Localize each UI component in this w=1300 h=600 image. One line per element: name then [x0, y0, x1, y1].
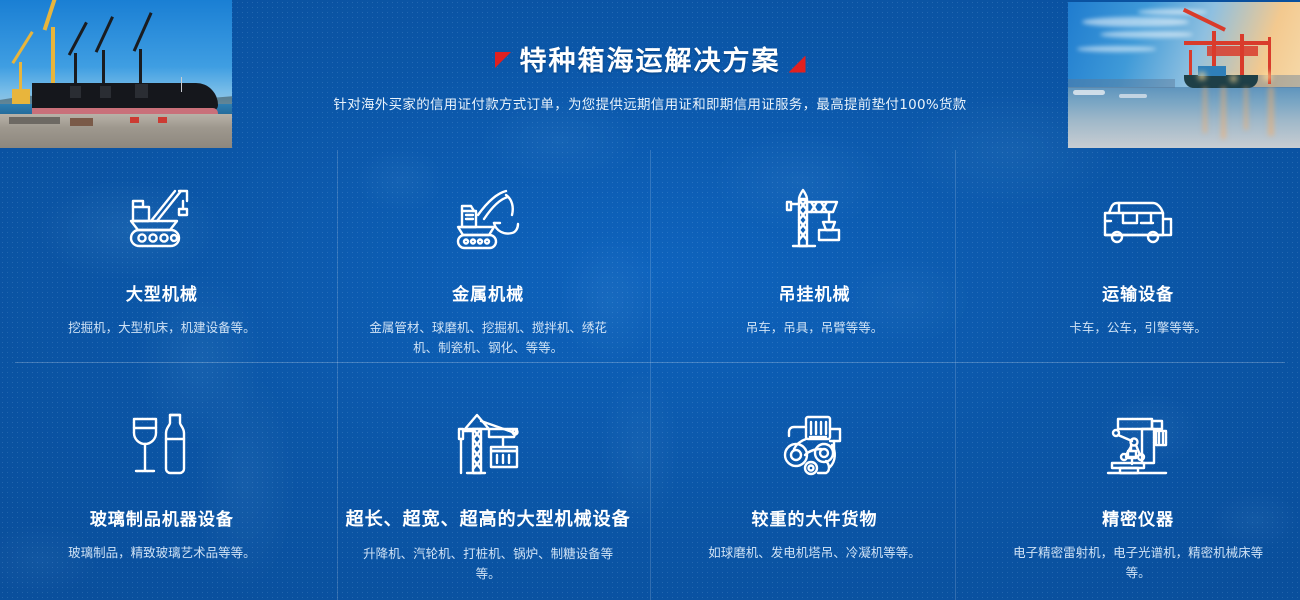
grid-divider-vertical — [955, 150, 956, 600]
card-description: 电子精密雷射机，电子光谱机，精密机械床等等。 — [1013, 543, 1263, 583]
card-title: 大型机械 — [126, 280, 198, 305]
card-description: 金属管材、球磨机、挖掘机、搅拌机、绣花机、制瓷机、钢化、等等。 — [363, 318, 613, 358]
card-title: 吊挂机械 — [778, 280, 850, 305]
excavator-icon — [448, 178, 528, 264]
precision-drill-icon — [1098, 403, 1178, 489]
card-description: 升降机、汽轮机、打桩机、锅炉、制糖设备等等。 — [354, 544, 622, 584]
page-title: 特种箱海运解决方案 — [520, 48, 781, 75]
card-description: 挖掘机，大型机床，机建设备等。 — [68, 318, 256, 338]
category-card-metal-machinery[interactable]: 金属机械 金属管材、球磨机、挖掘机、搅拌机、绣花机、制瓷机、钢化、等等。 — [324, 150, 653, 375]
card-description: 卡车，公车，引擎等等。 — [1069, 318, 1207, 338]
tower-crane-icon — [777, 178, 851, 264]
glass-bottle-icon — [128, 403, 196, 489]
category-grid: 大型机械 挖掘机，大型机床，机建设备等。 — [0, 150, 1300, 600]
container-crane-icon — [445, 403, 531, 489]
card-title: 精密仪器 — [1102, 505, 1174, 530]
grid-divider-vertical — [337, 150, 338, 600]
card-title: 超长、超宽、超高的大型机械设备 — [346, 505, 631, 531]
card-description: 吊车，吊具，吊臂等等。 — [746, 318, 884, 338]
category-card-lifting-machinery[interactable]: 吊挂机械 吊车，吊具，吊臂等等。 — [653, 150, 977, 375]
category-card-heavy-cargo[interactable]: 较重的大件货物 如球磨机、发电机塔吊、冷凝机等等。 — [653, 375, 977, 600]
card-description: 玻璃制品，精致玻璃艺术品等等。 — [68, 543, 256, 563]
card-title: 玻璃制品机器设备 — [90, 505, 234, 530]
triangle-accent-right-icon — [789, 56, 806, 73]
bus-truck-icon — [1097, 178, 1179, 264]
category-card-transport-equipment[interactable]: 运输设备 卡车，公车，引擎等等。 — [976, 150, 1300, 375]
category-card-precision-instruments[interactable]: 精密仪器 电子精密雷射机，电子光谱机，精密机械床等等。 — [976, 375, 1300, 600]
hero-section: 特种箱海运解决方案 针对海外买家的信用证付款方式订单，为您提供远期信用证和即期信… — [0, 0, 1300, 150]
category-card-oversized-machinery[interactable]: 超长、超宽、超高的大型机械设备 升降机、汽轮机、打桩机、锅炉、制糖设备等等。 — [324, 375, 653, 600]
category-card-glass-products[interactable]: 玻璃制品机器设备 玻璃制品，精致玻璃艺术品等等。 — [0, 375, 324, 600]
category-card-heavy-machinery[interactable]: 大型机械 挖掘机，大型机床，机建设备等。 — [0, 150, 324, 375]
card-title: 金属机械 — [452, 280, 524, 305]
card-title: 较重的大件货物 — [751, 505, 877, 530]
engine-icon — [776, 403, 852, 489]
card-title: 运输设备 — [1102, 280, 1174, 305]
crawler-crane-icon — [123, 178, 201, 264]
triangle-accent-left-icon — [495, 52, 512, 69]
grid-divider-horizontal — [15, 362, 1285, 363]
promo-banner: 特种箱海运解决方案 针对海外买家的信用证付款方式订单，为您提供远期信用证和即期信… — [0, 0, 1300, 600]
hero-title-row: 特种箱海运解决方案 — [495, 48, 806, 75]
card-description: 如球磨机、发电机塔吊、冷凝机等等。 — [708, 543, 921, 563]
grid-divider-vertical — [650, 150, 651, 600]
hero-subtitle: 针对海外买家的信用证付款方式订单，为您提供远期信用证和即期信用证服务，最高提前垫… — [333, 93, 966, 113]
